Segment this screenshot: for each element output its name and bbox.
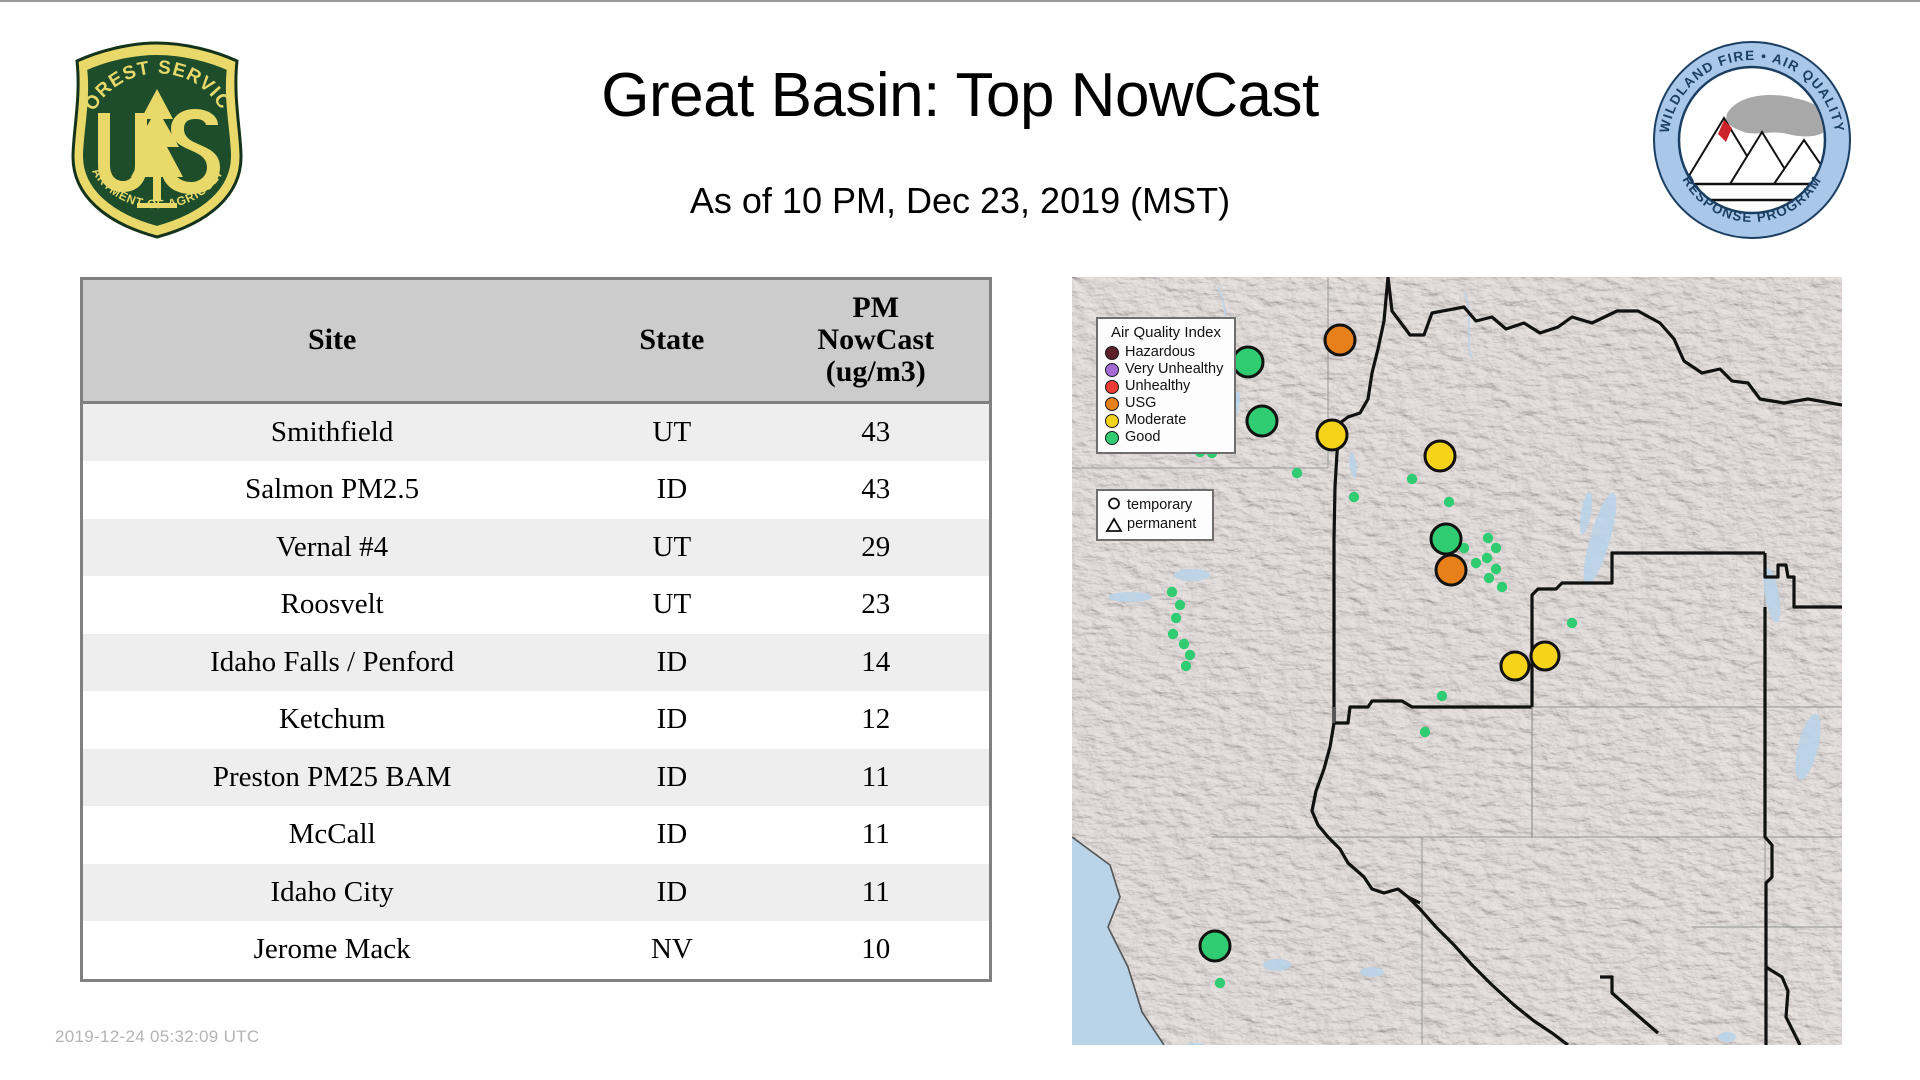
monitor-marker-good[interactable] [1431, 524, 1461, 554]
table-row: Salmon PM2.5ID43 [83, 461, 989, 519]
site-cell: Vernal #4 [83, 519, 581, 577]
pm-cell: 11 [762, 749, 989, 807]
state-cell: UT [581, 576, 762, 634]
state-cell: ID [581, 691, 762, 749]
monitor-map[interactable]: Air Quality Index HazardousVery Unhealth… [1072, 277, 1842, 1045]
small-monitor-dot[interactable] [1349, 492, 1359, 502]
monitor-marker-moderate[interactable] [1531, 642, 1559, 670]
usfs-shield-logo: FOREST SERVICE DEPARTMENT OF AGRICULTURE [55, 37, 260, 242]
site-cell: Smithfield [83, 402, 581, 461]
site-cell: Salmon PM2.5 [83, 461, 581, 519]
small-monitor-dot[interactable] [1491, 564, 1501, 574]
small-monitor-dot[interactable] [1567, 618, 1577, 628]
aqi-legend: Air Quality Index HazardousVery Unhealth… [1096, 317, 1236, 454]
table-row: McCallID11 [83, 806, 989, 864]
pm-cell: 10 [762, 921, 989, 979]
pm-cell: 11 [762, 806, 989, 864]
state-cell: ID [581, 806, 762, 864]
nowcast-table-container: Site State PM NowCast (ug/m3) Smithfield… [80, 277, 992, 982]
site-cell: Preston PM25 BAM [83, 749, 581, 807]
legend-row-good: Good [1105, 429, 1227, 446]
site-cell: Jerome Mack [83, 921, 581, 979]
small-monitor-dot[interactable] [1437, 691, 1447, 701]
pm-cell: 23 [762, 576, 989, 634]
small-monitor-dot[interactable] [1175, 600, 1185, 610]
site-cell: Idaho City [83, 864, 581, 922]
state-cell: ID [581, 634, 762, 692]
small-monitor-dot[interactable] [1168, 629, 1178, 639]
small-monitor-dot[interactable] [1185, 650, 1195, 660]
legend-label-permanent: permanent [1127, 515, 1196, 534]
pm-cell: 11 [762, 864, 989, 922]
table-row: Jerome MackNV10 [83, 921, 989, 979]
nowcast-table: Site State PM NowCast (ug/m3) Smithfield… [83, 280, 989, 979]
table-row: RoosveltUT23 [83, 576, 989, 634]
table-row: Preston PM25 BAMID11 [83, 749, 989, 807]
generated-timestamp: 2019-12-24 05:32:09 UTC [55, 1027, 259, 1047]
monitor-marker-usg[interactable] [1436, 555, 1466, 585]
table-row: Idaho Falls / PenfordID14 [83, 634, 989, 692]
small-monitor-dot[interactable] [1491, 543, 1501, 553]
legend-label: Moderate [1125, 412, 1186, 429]
small-monitor-dot[interactable] [1471, 558, 1481, 568]
column-header-state: State [581, 280, 762, 402]
site-cell: Roosvelt [83, 576, 581, 634]
monitor-marker-moderate[interactable] [1317, 420, 1347, 450]
state-cell: UT [581, 519, 762, 577]
monitor-marker-moderate[interactable] [1425, 441, 1455, 471]
pm-cell: 29 [762, 519, 989, 577]
legend-row-unhealthy: Unhealthy [1105, 378, 1227, 395]
legend-swatch-icon [1105, 380, 1119, 394]
state-cell: UT [581, 402, 762, 461]
page-title: Great Basin: Top NowCast [330, 60, 1590, 131]
small-monitor-dot[interactable] [1420, 727, 1430, 737]
triangle-icon [1105, 516, 1123, 534]
legend-row-temporary: temporary [1105, 496, 1205, 515]
table-row: Idaho CityID11 [83, 864, 989, 922]
small-monitor-dot[interactable] [1482, 553, 1492, 563]
small-monitor-dot[interactable] [1483, 533, 1493, 543]
pm-cell: 12 [762, 691, 989, 749]
legend-row-hazardous: Hazardous [1105, 344, 1227, 361]
pm-header-line1: PM [766, 292, 985, 324]
legend-label: Unhealthy [1125, 378, 1190, 395]
legend-swatch-icon [1105, 346, 1119, 360]
pm-cell: 43 [762, 461, 989, 519]
table-row: Vernal #4UT29 [83, 519, 989, 577]
monitor-marker-good[interactable] [1233, 347, 1263, 377]
legend-swatch-icon [1105, 363, 1119, 377]
monitor-marker-good[interactable] [1200, 931, 1230, 961]
site-cell: Ketchum [83, 691, 581, 749]
monitor-marker-moderate[interactable] [1501, 652, 1529, 680]
legend-label: Very Unhealthy [1125, 361, 1223, 378]
pm-cell: 43 [762, 402, 989, 461]
legend-label: Hazardous [1125, 344, 1195, 361]
small-monitor-dot[interactable] [1215, 978, 1225, 988]
small-monitor-dot[interactable] [1292, 468, 1302, 478]
symbol-legend: temporary permanent [1096, 489, 1214, 541]
monitor-marker-usg[interactable] [1325, 325, 1355, 355]
legend-row-usg: USG [1105, 395, 1227, 412]
small-monitor-dot[interactable] [1181, 661, 1191, 671]
state-cell: ID [581, 461, 762, 519]
legend-row-very-unhealthy: Very Unhealthy [1105, 361, 1227, 378]
wfaqrp-logo: WILDLAND FIRE • AIR QUALITY RESPONSE PRO… [1652, 40, 1852, 240]
pm-cell: 14 [762, 634, 989, 692]
column-header-pm-nowcast: PM NowCast (ug/m3) [762, 280, 989, 402]
pm-header-line3: (ug/m3) [766, 356, 985, 388]
small-monitor-dot[interactable] [1484, 573, 1494, 583]
small-monitor-dot[interactable] [1444, 497, 1454, 507]
table-header-row: Site State PM NowCast (ug/m3) [83, 280, 989, 402]
state-cell: ID [581, 864, 762, 922]
pm-header-line2: NowCast [766, 324, 985, 356]
table-row: KetchumID12 [83, 691, 989, 749]
slide-canvas: FOREST SERVICE DEPARTMENT OF AGRICULTURE… [0, 0, 1920, 1080]
legend-label: Good [1125, 429, 1160, 446]
legend-swatch-icon [1105, 397, 1119, 411]
small-monitor-dot[interactable] [1407, 474, 1417, 484]
circle-icon [1105, 497, 1123, 515]
small-monitor-dot[interactable] [1167, 587, 1177, 597]
table-row: SmithfieldUT43 [83, 402, 989, 461]
site-cell: McCall [83, 806, 581, 864]
legend-swatch-icon [1105, 414, 1119, 428]
legend-row-permanent: permanent [1105, 515, 1205, 534]
state-cell: ID [581, 749, 762, 807]
legend-swatch-icon [1105, 431, 1119, 445]
monitor-marker-good[interactable] [1247, 406, 1277, 436]
small-monitor-dot[interactable] [1497, 582, 1507, 592]
legend-row-moderate: Moderate [1105, 412, 1227, 429]
legend-label-temporary: temporary [1127, 496, 1192, 515]
small-monitor-dot[interactable] [1171, 613, 1181, 623]
state-cell: NV [581, 921, 762, 979]
legend-label: USG [1125, 395, 1156, 412]
aqi-legend-title: Air Quality Index [1105, 324, 1227, 341]
column-header-site: Site [83, 280, 581, 402]
page-subtitle: As of 10 PM, Dec 23, 2019 (MST) [330, 180, 1590, 222]
small-monitor-dot[interactable] [1179, 639, 1189, 649]
site-cell: Idaho Falls / Penford [83, 634, 581, 692]
